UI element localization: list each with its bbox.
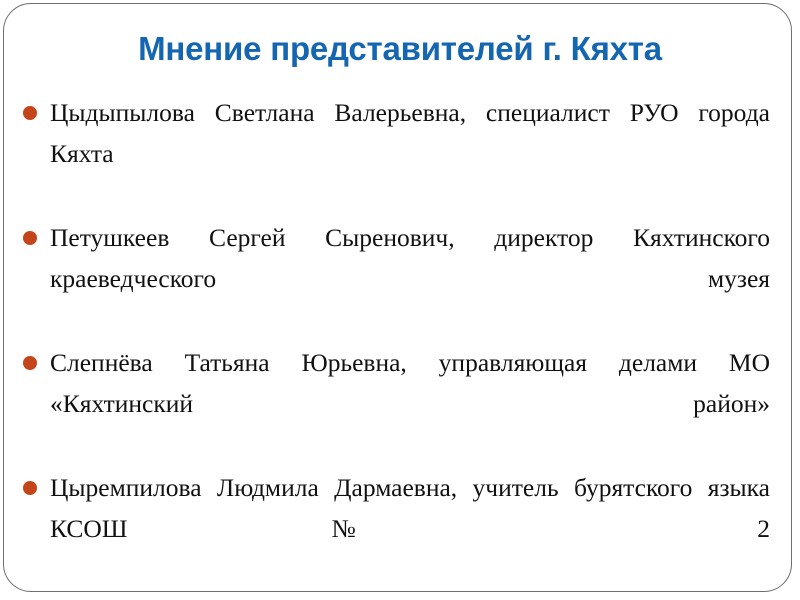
slide-body-placeholder[interactable]: Цыдыпылова Светлана Валерьевна, специали… [18, 92, 770, 592]
filled-circle-bullet-icon [23, 356, 37, 370]
list-item[interactable]: Петушкеев Сергей Сыренович, директор Кях… [18, 217, 770, 340]
list-item-label: Цыдыпылова Светлана Валерьевна, специали… [50, 92, 770, 215]
filled-circle-bullet-icon [23, 231, 37, 245]
page-title: Мнение представителей г. Кяхта [138, 32, 662, 67]
filled-circle-bullet-icon [23, 481, 37, 495]
filled-circle-bullet-icon [23, 106, 37, 120]
slide-title-placeholder[interactable]: Мнение представителей г. Кяхта [40, 24, 760, 74]
list-item-label: Петушкеев Сергей Сыренович, директор Кях… [50, 217, 770, 340]
list-item-label: Цыремпилова Людмила Дармаевна, учитель б… [50, 467, 770, 590]
list-item[interactable]: Цыремпилова Людмила Дармаевна, учитель б… [18, 467, 770, 590]
list-item[interactable]: Цыдыпылова Светлана Валерьевна, специали… [18, 92, 770, 215]
bullet-list: Цыдыпылова Светлана Валерьевна, специали… [18, 92, 770, 590]
presentation-slide: Мнение представителей г. Кяхта Цыдыпылов… [0, 0, 800, 600]
list-item-label: Слепнёва Татьяна Юрьевна, управляющая де… [50, 342, 770, 465]
list-item[interactable]: Слепнёва Татьяна Юрьевна, управляющая де… [18, 342, 770, 465]
